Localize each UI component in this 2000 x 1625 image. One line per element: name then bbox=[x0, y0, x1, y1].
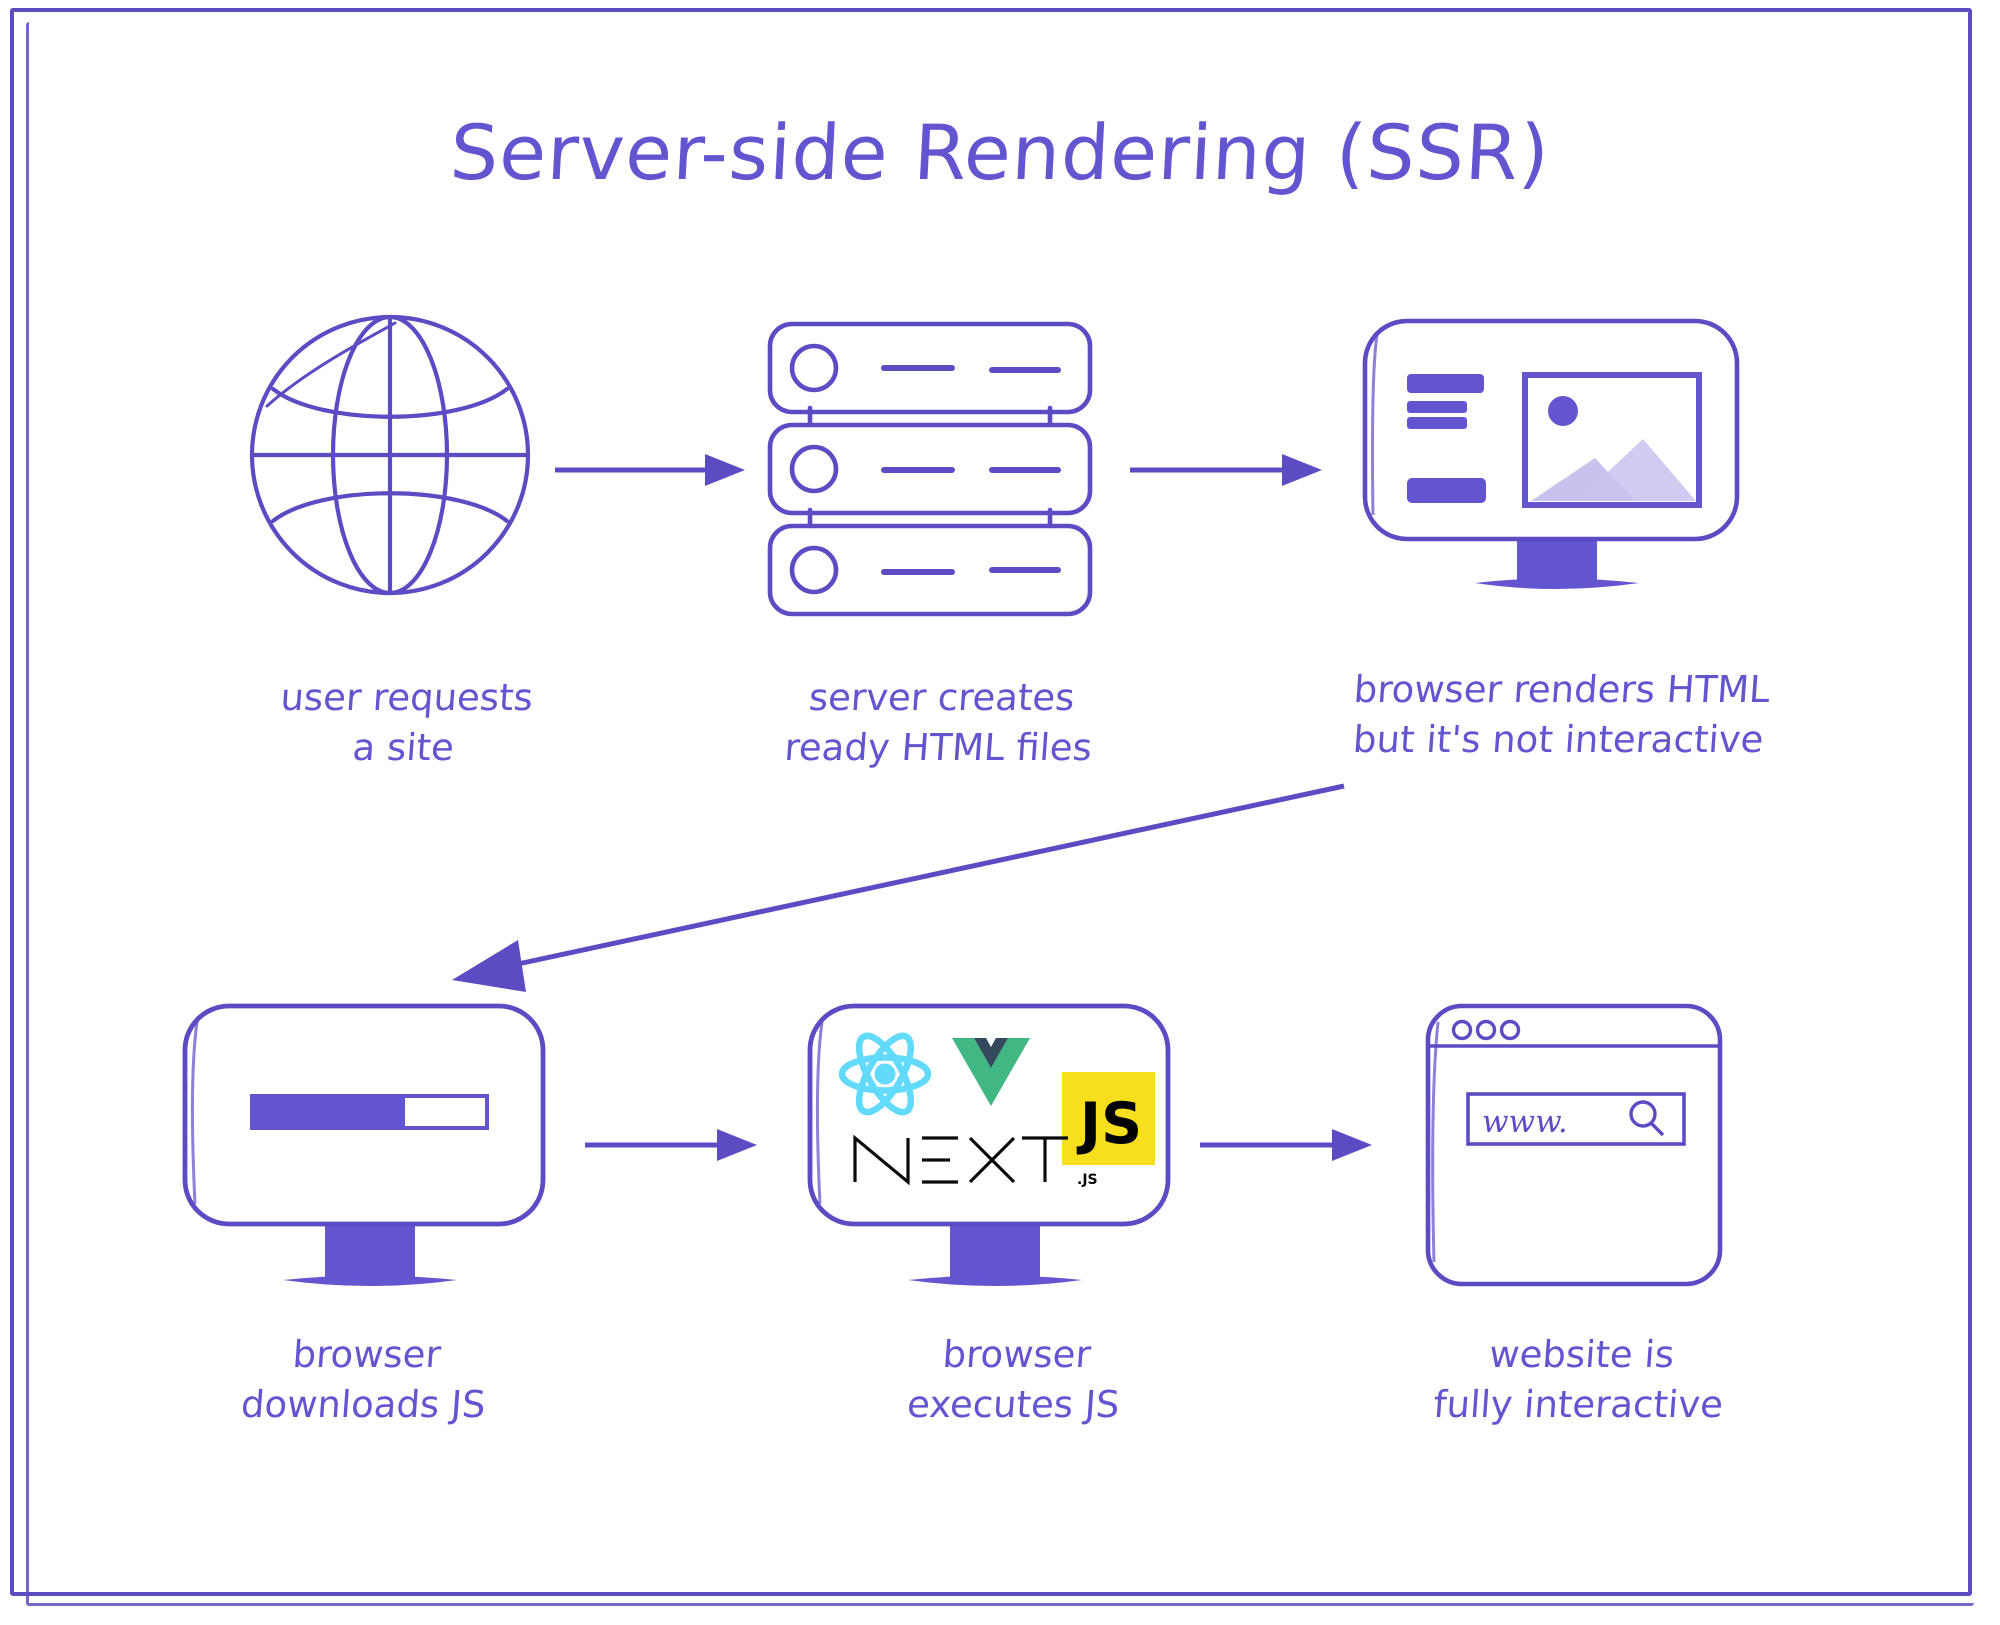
button-block bbox=[1407, 478, 1486, 503]
globe-icon bbox=[245, 310, 535, 600]
server-stack-icon bbox=[762, 320, 1092, 620]
arrow-globe-to-server bbox=[555, 450, 765, 490]
svg-text:JS: JS bbox=[1076, 1091, 1142, 1157]
monitor-rendered-page-icon bbox=[1355, 315, 1755, 615]
progress-bar bbox=[252, 1096, 487, 1128]
caption-line: browser bbox=[860, 1330, 1173, 1380]
caption-step-1: user requests a site bbox=[187, 673, 624, 773]
caption-line: fully interactive bbox=[1397, 1380, 1760, 1430]
caption-line: ready HTML files bbox=[697, 723, 1180, 773]
arrow-monitor-to-downloads bbox=[430, 780, 1350, 1010]
caption-line: website is bbox=[1400, 1330, 1763, 1380]
caption-line: user requests bbox=[190, 673, 623, 723]
arrow-downloads-to-executes bbox=[585, 1125, 780, 1165]
text-block bbox=[1407, 374, 1484, 393]
caption-step-3: browser renders HTML but it's not intera… bbox=[1287, 665, 1834, 765]
caption-step-5: browser executes JS bbox=[857, 1330, 1174, 1430]
caption-step-6: website is fully interactive bbox=[1397, 1330, 1764, 1430]
arrow-executes-to-interactive bbox=[1200, 1125, 1400, 1165]
text-block bbox=[1407, 401, 1467, 413]
picture-placeholder-icon bbox=[1525, 375, 1699, 505]
monitor-progress-bar-icon bbox=[175, 990, 565, 1310]
caption-step-2: server creates ready HTML files bbox=[697, 673, 1184, 773]
arrow-server-to-monitor bbox=[1130, 450, 1345, 490]
caption-line: a site bbox=[187, 723, 620, 773]
caption-line: downloads JS bbox=[207, 1380, 520, 1430]
svg-text:.JS: .JS bbox=[1077, 1172, 1098, 1188]
caption-step-4: browser downloads JS bbox=[207, 1330, 524, 1430]
monitor-frameworks-icon: NEXT JS .JS bbox=[800, 990, 1190, 1310]
page-title: Server-side Rendering (SSR) bbox=[0, 108, 2000, 197]
ssr-diagram-canvas: Server-side Rendering (SSR) user request… bbox=[0, 0, 2000, 1625]
caption-line: executes JS bbox=[857, 1380, 1170, 1430]
caption-line: but it's not interactive bbox=[1287, 715, 1830, 765]
javascript-js-logo: NEXT JS bbox=[1062, 1072, 1155, 1165]
browser-window-icon[interactable]: www. bbox=[1420, 1000, 1730, 1290]
text-block bbox=[1407, 417, 1467, 429]
caption-line: server creates bbox=[700, 673, 1183, 723]
caption-line: browser renders HTML bbox=[1290, 665, 1833, 715]
caption-line: browser bbox=[210, 1330, 523, 1380]
url-bar: www. bbox=[1468, 1094, 1684, 1144]
url-text: www. bbox=[1482, 1104, 1568, 1140]
